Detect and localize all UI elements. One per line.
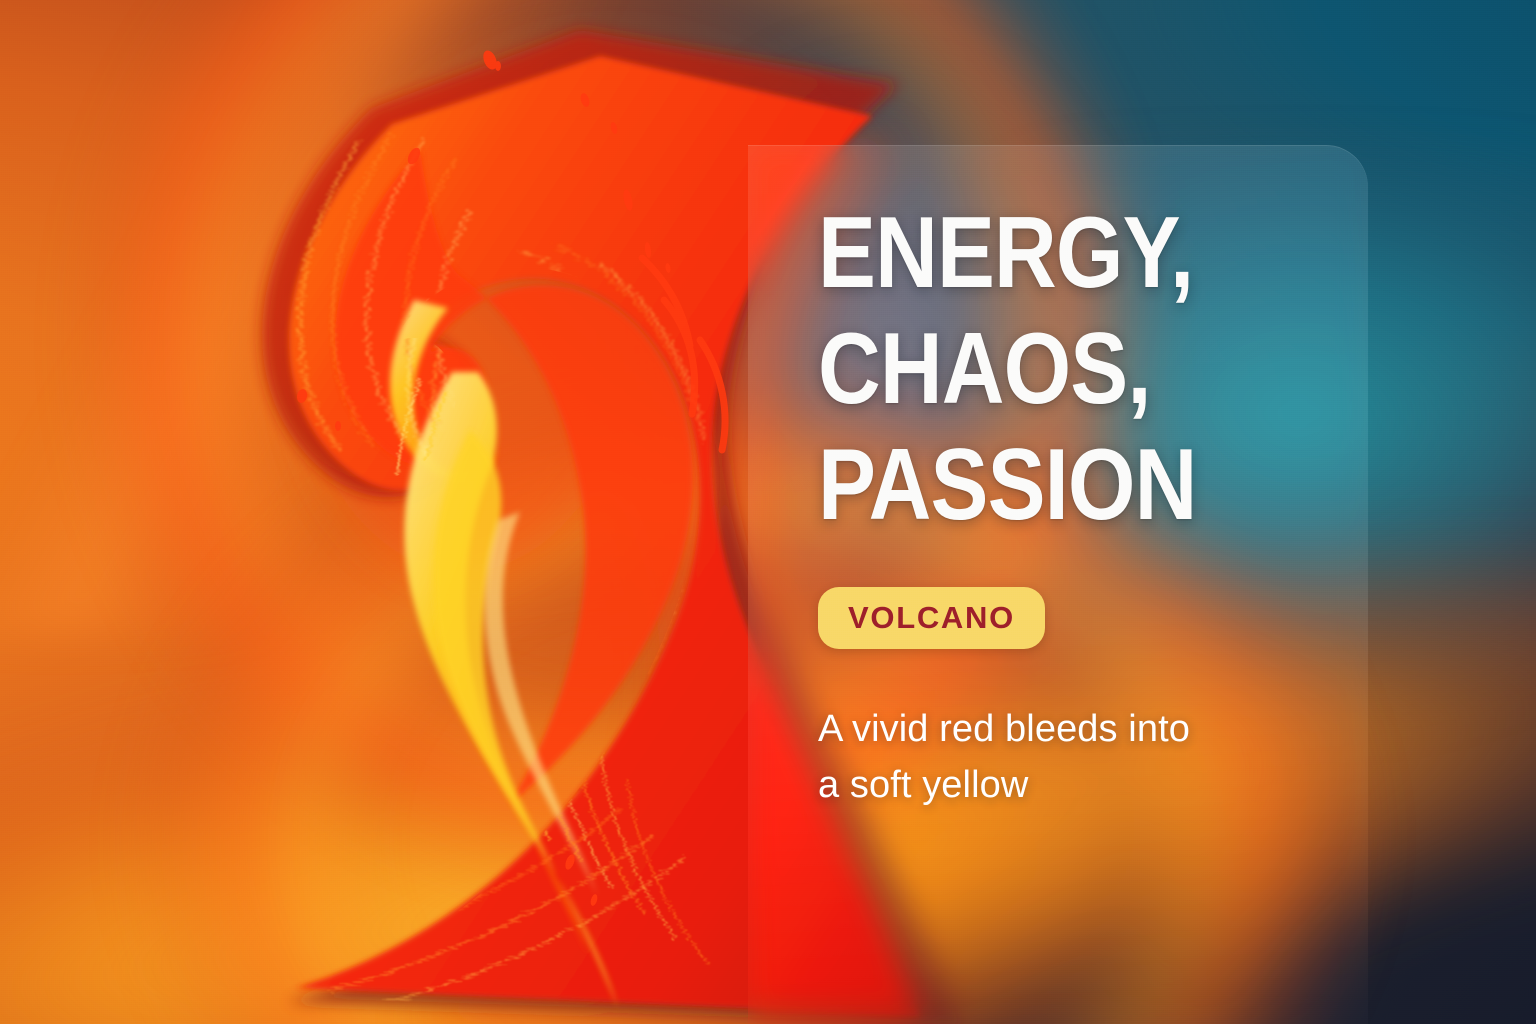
status-badge: VOLCANO (818, 587, 1045, 649)
page-title: ENERGY, CHAOS, PASSION (818, 195, 1317, 543)
panel-content: ENERGY, CHAOS, PASSION VOLCANO A vivid r… (818, 195, 1398, 813)
badge-row: VOLCANO (818, 587, 1398, 649)
poster-canvas: ENERGY, CHAOS, PASSION VOLCANO A vivid r… (0, 0, 1536, 1024)
description-text: A vivid red bleeds into a soft yellow (818, 701, 1398, 813)
